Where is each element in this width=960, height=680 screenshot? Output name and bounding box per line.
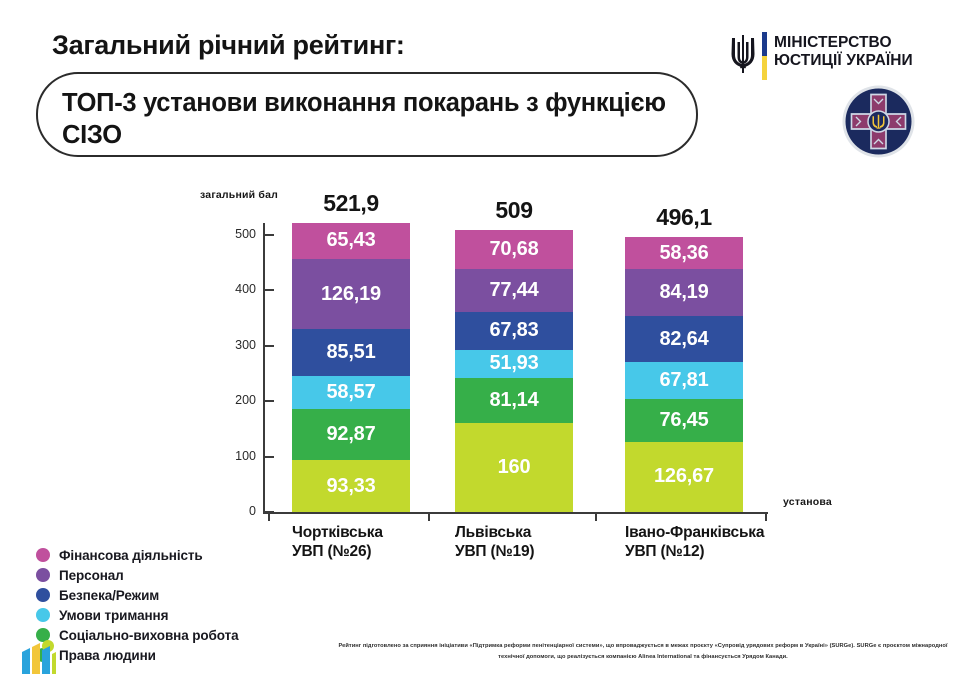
subtitle-callout-box: ТОП-3 установи виконання покарань з функ… (36, 72, 698, 157)
bar-segment[interactable]: 58,57 (292, 376, 410, 408)
legend-item[interactable]: Соціально-виховна робота (36, 625, 336, 645)
bar-total-value: 521,9 (271, 190, 431, 217)
y-axis-tick-label: 0 (210, 504, 256, 518)
bar-segment-value: 51,93 (489, 352, 538, 375)
legend-item[interactable]: Умови тримання (36, 605, 336, 625)
bar-segment-value: 77,44 (489, 279, 538, 302)
bar-segment[interactable]: 65,43 (292, 223, 410, 259)
ministry-logo-lockup: МІНІСТЕРСТВО ЮСТИЦІЇ УКРАЇНИ (730, 33, 930, 79)
bar-segment[interactable]: 92,87 (292, 409, 410, 460)
bar-segment-value: 65,43 (326, 229, 375, 252)
bar-segment[interactable]: 77,44 (455, 269, 573, 312)
bar-segment-value: 92,87 (326, 423, 375, 446)
bar-segment-value: 84,19 (659, 281, 708, 304)
category-label-line2: УВП (№12) (625, 543, 704, 560)
bar-segment-value: 67,81 (659, 369, 708, 392)
stacked-bar[interactable]: 70,6877,4467,8351,9381,14160 (455, 230, 573, 512)
bar-segment[interactable]: 58,36 (625, 237, 743, 269)
bar-segment-value: 85,51 (326, 341, 375, 364)
category-label: ЛьвівськаУВП (№19) (455, 524, 645, 561)
y-axis-tick-label: 100 (210, 449, 256, 463)
bar-segment[interactable]: 93,33 (292, 460, 410, 512)
legend-item[interactable]: Фінансова діяльність (36, 545, 336, 565)
bar-segment[interactable]: 126,19 (292, 259, 410, 329)
legend-item-label: Персонал (59, 568, 124, 583)
bar-segment[interactable]: 70,68 (455, 230, 573, 269)
penitentiary-service-emblem-icon (841, 84, 916, 159)
category-label-line1: Чортківська (292, 524, 383, 541)
legend-item[interactable]: Права людини (36, 645, 336, 665)
x-axis-tick (268, 512, 270, 521)
x-axis-line (263, 512, 768, 514)
legend-item-label: Права людини (59, 648, 156, 663)
category-label-line1: Львівська (455, 524, 531, 541)
stacked-bar[interactable]: 58,3684,1982,6467,8176,45126,67 (625, 237, 743, 512)
footer-note: Рейтинг підготовлено за сприяння ініціат… (336, 641, 950, 662)
bar-segment-value: 81,14 (489, 389, 538, 412)
ukraine-flag-bar (762, 32, 767, 80)
bar-segment-value: 76,45 (659, 409, 708, 432)
y-axis-tick (263, 234, 274, 236)
bar-segment-value: 126,67 (654, 465, 714, 488)
bar-segment[interactable]: 84,19 (625, 269, 743, 316)
trident-icon (730, 33, 756, 75)
bar-segment[interactable]: 76,45 (625, 399, 743, 441)
y-axis-tick-label: 500 (210, 227, 256, 241)
y-axis-tick (263, 289, 274, 291)
surge-logo-icon (22, 640, 64, 674)
category-label-line2: УВП (№19) (455, 543, 534, 560)
y-axis-title: загальний бал (200, 189, 278, 201)
legend-color-swatch-icon (36, 608, 50, 622)
ministry-name-line1: МІНІСТЕРСТВО (774, 34, 892, 51)
bar-total-value: 509 (434, 197, 594, 224)
page-header: Загальний річний рейтинг: ТОП-3 установи… (0, 0, 960, 175)
legend-item[interactable]: Персонал (36, 565, 336, 585)
subtitle-text: ТОП-3 установи виконання покарань з функ… (62, 87, 682, 152)
legend-color-swatch-icon (36, 548, 50, 562)
bar-segment[interactable]: 81,14 (455, 378, 573, 423)
bar-segment-value: 160 (498, 456, 531, 479)
legend-color-swatch-icon (36, 568, 50, 582)
y-axis-tick (263, 400, 274, 402)
x-axis-tick (428, 512, 430, 521)
chart-legend: Фінансова діяльністьПерсоналБезпека/Режи… (36, 545, 336, 665)
y-axis-tick-label: 400 (210, 282, 256, 296)
y-axis-tick-label: 300 (210, 338, 256, 352)
bar-segment[interactable]: 160 (455, 423, 573, 512)
page-title: Загальний річний рейтинг: (52, 30, 405, 61)
footer-line-1: Рейтинг підготовлено за сприяння ініціат… (338, 643, 855, 649)
y-axis-tick (263, 456, 274, 458)
bar-segment[interactable]: 67,81 (625, 362, 743, 400)
bar-segment-value: 82,64 (659, 328, 708, 351)
bar-segment[interactable]: 85,51 (292, 329, 410, 376)
bar-total-value: 496,1 (604, 204, 764, 231)
bar-segment-value: 58,36 (659, 242, 708, 265)
legend-item-label: Соціально-виховна робота (59, 628, 239, 643)
y-axis-tick-label: 200 (210, 393, 256, 407)
y-axis-line (263, 223, 265, 513)
bar-segment-value: 70,68 (489, 238, 538, 261)
legend-item[interactable]: Безпека/Режим (36, 585, 336, 605)
legend-color-swatch-icon (36, 588, 50, 602)
legend-item-label: Безпека/Режим (59, 588, 159, 603)
bar-segment-value: 93,33 (326, 475, 375, 498)
bar-segment[interactable]: 82,64 (625, 316, 743, 362)
bar-segment-value: 67,83 (489, 319, 538, 342)
category-label: Івано-ФранківськаУВП (№12) (625, 524, 815, 561)
stacked-bar-chart: загальний бал установа 0100200300400500 … (0, 180, 960, 530)
x-axis-title: установа (783, 496, 832, 508)
x-axis-tick (765, 512, 767, 521)
legend-item-label: Умови тримання (59, 608, 168, 623)
ministry-name-line2: ЮСТИЦІЇ УКРАЇНИ (774, 52, 913, 69)
bar-segment[interactable]: 51,93 (455, 350, 573, 379)
category-label-line1: Івано-Франківська (625, 524, 764, 541)
ministry-name: МІНІСТЕРСТВО ЮСТИЦІЇ УКРАЇНИ (774, 34, 913, 71)
bar-segment-value: 126,19 (321, 283, 381, 306)
y-axis-tick (263, 345, 274, 347)
bar-segment[interactable]: 126,67 (625, 442, 743, 512)
stacked-bar[interactable]: 65,43126,1985,5158,5792,8793,33 (292, 223, 410, 512)
bar-segment[interactable]: 67,83 (455, 312, 573, 350)
bar-segment-value: 58,57 (326, 381, 375, 404)
x-axis-tick (595, 512, 597, 521)
legend-item-label: Фінансова діяльність (59, 548, 203, 563)
